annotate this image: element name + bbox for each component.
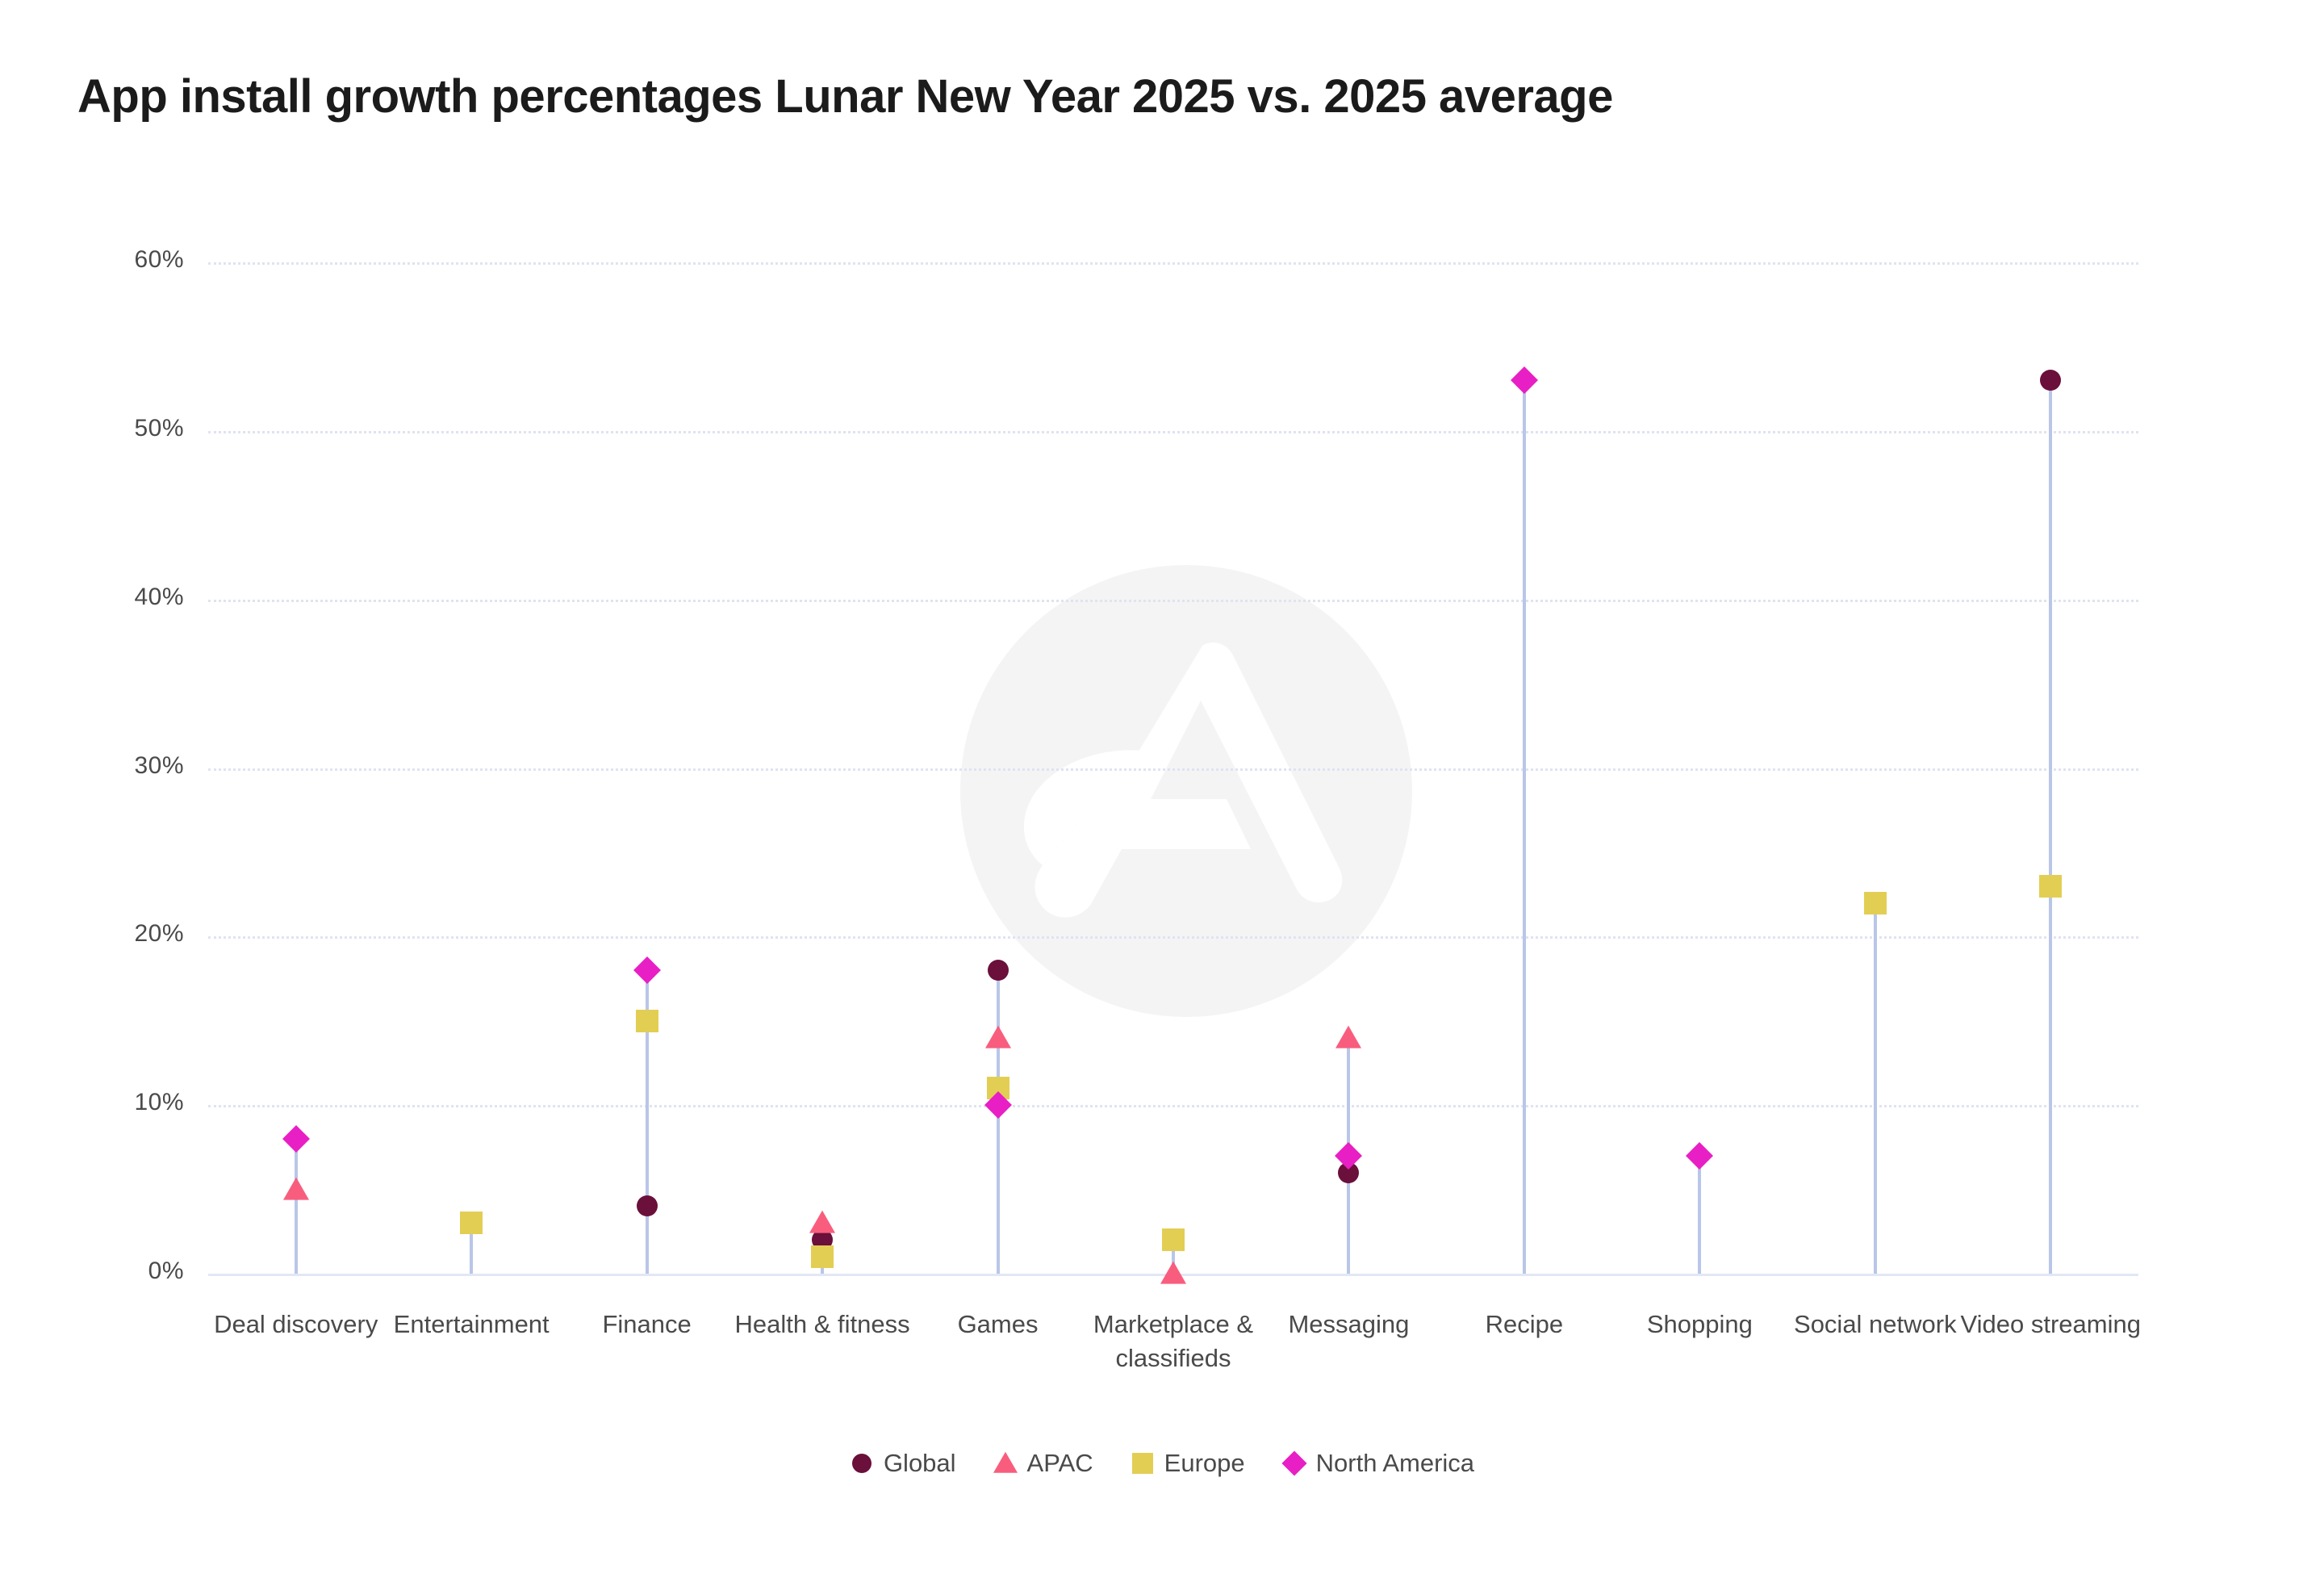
stem-line [1523,380,1526,1274]
chart-canvas: 0%10%20%30%40%50%60% Deal discoveryEnter… [0,0,2324,1582]
diamond-marker-icon[interactable] [633,956,661,984]
gridline [208,936,2138,939]
square-marker-icon[interactable] [460,1212,483,1234]
gridline [208,600,2138,602]
y-axis-tick-label: 10% [95,1089,184,1116]
circle-marker-icon [850,1451,874,1475]
legend-label: Europe [1164,1449,1245,1478]
gridline [208,431,2138,433]
diamond-marker-icon[interactable] [1686,1142,1713,1170]
square-marker-icon[interactable] [811,1245,834,1268]
triangle-marker-icon[interactable] [985,1025,1011,1048]
legend-item[interactable]: Europe [1131,1449,1245,1478]
watermark-circle [960,565,1412,1017]
diamond-marker-icon [1282,1451,1306,1475]
legend-item[interactable]: Global [850,1449,956,1478]
legend-label: APAC [1027,1449,1093,1478]
gridline [208,262,2138,265]
legend-label: Global [884,1449,956,1478]
y-axis-tick-label: 0% [95,1258,184,1285]
legend-label: North America [1316,1449,1474,1478]
y-axis-tick-label: 30% [95,752,184,780]
gridline [208,768,2138,771]
circle-marker-icon[interactable] [988,960,1009,981]
legend-item[interactable]: APAC [993,1449,1093,1478]
stem-line [295,1139,298,1274]
legend-item[interactable]: North America [1282,1449,1474,1478]
y-axis-tick-label: 20% [95,920,184,948]
square-marker-icon [1131,1451,1155,1475]
triangle-marker-icon[interactable] [1160,1262,1186,1284]
stem-line [1874,903,1877,1274]
triangle-marker-icon[interactable] [809,1211,835,1233]
y-axis-tick-label: 50% [95,415,184,442]
diamond-marker-icon[interactable] [1511,366,1538,394]
chart-legend: GlobalAPACEuropeNorth America [0,1449,2324,1478]
x-axis-tick-label: Video streaming [1946,1308,2155,1341]
y-axis-tick-label: 60% [95,246,184,274]
triangle-marker-icon[interactable] [1335,1025,1361,1048]
y-axis-tick-label: 40% [95,584,184,611]
stem-line [997,970,1000,1274]
circle-marker-icon[interactable] [637,1195,658,1216]
square-marker-icon[interactable] [636,1010,658,1032]
diamond-marker-icon[interactable] [1335,1142,1362,1170]
square-marker-icon[interactable] [1864,892,1887,914]
stem-line [1698,1156,1701,1274]
watermark-glyph [960,565,1412,1017]
triangle-marker-icon[interactable] [283,1177,309,1199]
diamond-marker-icon[interactable] [282,1125,310,1153]
stem-line [2049,380,2052,1274]
appsflyer-logo-watermark [960,565,1412,1017]
circle-marker-icon[interactable] [2040,370,2061,391]
square-marker-icon[interactable] [2039,875,2062,898]
square-marker-icon[interactable] [1162,1228,1185,1251]
triangle-marker-icon [993,1451,1018,1475]
gridline [208,1105,2138,1107]
